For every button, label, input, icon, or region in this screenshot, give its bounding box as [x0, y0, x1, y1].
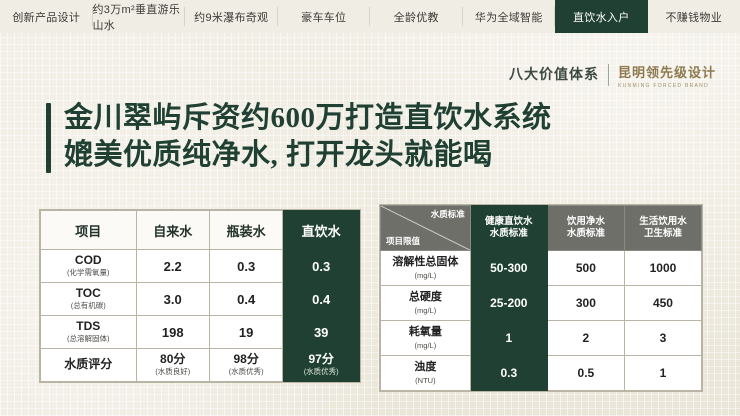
row-label-score: 水质评分 — [41, 349, 137, 382]
nav-item-label: 约3万m²垂直游乐山水 — [93, 1, 186, 33]
cell-cod-direct: 0.3 — [283, 250, 360, 283]
nav-item-label: 全龄优教 — [394, 9, 439, 25]
cell-tds-tap: 198 — [136, 316, 209, 349]
cell-tds-purified: 500 — [547, 251, 624, 286]
table-row: 溶解性总固体 (mg/L) 50-300 500 1000 — [381, 251, 702, 286]
col-header-purified: 饮用净水 水质标准 — [547, 206, 624, 251]
cell-score-direct: 97分 (水质优秀) — [283, 349, 360, 382]
cell-oxygen-purified: 2 — [547, 321, 624, 356]
nav-item-label: 华为全域智能 — [475, 9, 543, 25]
nav-item-6-active[interactable]: 直饮水入户 — [555, 0, 648, 33]
col-header-healthy-direct: 健康直饮水 水质标准 — [470, 206, 547, 251]
row-label-turbidity: 浊度 (NTU) — [381, 356, 471, 391]
row-label-sub: (总有机碳) — [41, 302, 136, 311]
col-header-bottled: 瓶装水 — [209, 211, 282, 250]
cell-tds-direct: 39 — [283, 316, 360, 349]
col-header-project: 项目 — [41, 211, 137, 250]
cell-toc-direct: 0.4 — [283, 283, 360, 316]
nav-item-7[interactable]: 不赚钱物业 — [648, 0, 740, 33]
brand-block: 八大价值体系 昆明领先级设计 KUNMING FORCED BRAND — [509, 62, 716, 89]
water-comparison-table: 项目 自来水 瓶装水 直饮水 COD (化学需氧量) 2.2 0.3 0.3 T… — [40, 210, 360, 382]
cell-value-main: 97分 — [283, 353, 359, 367]
nav-item-label: 不赚钱物业 — [666, 9, 723, 25]
table-row: 浊度 (NTU) 0.3 0.5 1 — [381, 356, 702, 391]
cell-hardness-purified: 300 — [547, 286, 624, 321]
water-comparison-table-wrap: 项目 自来水 瓶装水 直饮水 COD (化学需氧量) 2.2 0.3 0.3 T… — [40, 210, 360, 382]
col-header-domestic: 生活饮用水 卫生标准 — [624, 206, 701, 251]
nav-item-0[interactable]: 创新产品设计 — [0, 0, 93, 33]
corner-label-top: 水质标准 — [431, 209, 465, 220]
row-label-sub: (mg/L) — [381, 341, 470, 350]
col-header-text: 健康直饮水 水质标准 — [471, 216, 547, 240]
cell-tds-healthy: 50-300 — [470, 251, 547, 286]
headline-line-2: 媲美优质纯净水, 打开龙头就能喝 — [64, 137, 552, 174]
row-label-main: 总硬度 — [381, 291, 470, 304]
cell-score-tap: 80分 (水质良好) — [136, 349, 209, 382]
brand-divider — [608, 64, 609, 86]
cell-score-bottled: 98分 (水质优秀) — [209, 349, 282, 382]
col-header-direct: 直饮水 — [283, 211, 360, 250]
cell-cod-bottled: 0.3 — [209, 250, 282, 283]
nav-item-label: 直饮水入户 — [573, 9, 630, 25]
cell-value-sub: (水质优秀) — [210, 368, 282, 377]
row-label-sub: (mg/L) — [381, 271, 470, 280]
row-label-tds-solids: 溶解性总固体 (mg/L) — [381, 251, 471, 286]
row-label-main: 浊度 — [381, 361, 470, 374]
row-label-cod: COD (化学需氧量) — [41, 250, 137, 283]
table-row: COD (化学需氧量) 2.2 0.3 0.3 — [41, 250, 360, 283]
cell-turbidity-healthy: 0.3 — [470, 356, 547, 391]
row-label-sub: (总溶解固体) — [41, 335, 136, 344]
table-row: 耗氧量 (mg/L) 1 2 3 — [381, 321, 702, 356]
nav-item-label: 约9米瀑布奇观 — [194, 9, 268, 25]
cell-oxygen-domestic: 3 — [624, 321, 701, 356]
nav-item-label: 豪车车位 — [301, 9, 346, 25]
table-row: 水质评分 80分 (水质良好) 98分 (水质优秀) 97分 (水质优秀) — [41, 349, 360, 382]
headline-line-1: 金川翠屿斥资约600万打造直饮水系统 — [64, 100, 552, 137]
row-label-main: TOC — [41, 287, 136, 301]
table-header-row: 项目 自来水 瓶装水 直饮水 — [41, 211, 360, 250]
row-label-hardness: 总硬度 (mg/L) — [381, 286, 471, 321]
nav-item-1[interactable]: 约3万m²垂直游乐山水 — [93, 0, 186, 33]
row-label-sub: (NTU) — [381, 376, 470, 385]
cell-hardness-domestic: 450 — [624, 286, 701, 321]
col-header-text: 生活饮用水 卫生标准 — [625, 216, 701, 240]
cell-value-main: 98分 — [210, 353, 282, 367]
cell-value-sub: (水质优秀) — [283, 368, 359, 377]
row-label-main: TDS — [41, 320, 136, 334]
corner-cell-inner: 水质标准 项目限值 — [381, 206, 470, 250]
cell-turbidity-purified: 0.5 — [547, 356, 624, 391]
nav-item-2[interactable]: 约9米瀑布奇观 — [185, 0, 278, 33]
cell-toc-bottled: 0.4 — [209, 283, 282, 316]
cell-oxygen-healthy: 1 — [470, 321, 547, 356]
table-row: TDS (总溶解固体) 198 19 39 — [41, 316, 360, 349]
cell-tds-domestic: 1000 — [624, 251, 701, 286]
table-header-row: 水质标准 项目限值 健康直饮水 水质标准 饮用净水 水质标准 生活饮用水 卫生标… — [381, 206, 702, 251]
water-standard-table: 水质标准 项目限值 健康直饮水 水质标准 饮用净水 水质标准 生活饮用水 卫生标… — [380, 205, 702, 391]
nav-item-5[interactable]: 华为全域智能 — [463, 0, 556, 33]
headline-accent-bar — [46, 103, 51, 173]
cell-hardness-healthy: 25-200 — [470, 286, 547, 321]
cell-value-main: 80分 — [137, 353, 209, 367]
brand-en-text: KUNMING FORCED BRAND — [618, 83, 716, 89]
row-label-main: 水质评分 — [41, 358, 136, 372]
cell-cod-tap: 2.2 — [136, 250, 209, 283]
brand-left-text: 八大价值体系 — [509, 62, 599, 84]
row-label-toc: TOC (总有机碳) — [41, 283, 137, 316]
row-label-main: 耗氧量 — [381, 326, 470, 339]
row-label-oxygen: 耗氧量 (mg/L) — [381, 321, 471, 356]
corner-label-bottom: 项目限值 — [386, 236, 420, 247]
nav-item-4[interactable]: 全龄优教 — [370, 0, 463, 33]
table-row: 总硬度 (mg/L) 25-200 300 450 — [381, 286, 702, 321]
cell-value-sub: (水质良好) — [137, 368, 209, 377]
water-standard-table-wrap: 水质标准 项目限值 健康直饮水 水质标准 饮用净水 水质标准 生活饮用水 卫生标… — [380, 205, 702, 391]
table-row: TOC (总有机碳) 3.0 0.4 0.4 — [41, 283, 360, 316]
row-label-tds: TDS (总溶解固体) — [41, 316, 137, 349]
nav-item-label: 创新产品设计 — [12, 9, 80, 25]
row-label-sub: (mg/L) — [381, 306, 470, 315]
headline-block: 金川翠屿斥资约600万打造直饮水系统 媲美优质纯净水, 打开龙头就能喝 — [46, 100, 552, 174]
nav-item-3[interactable]: 豪车车位 — [278, 0, 371, 33]
row-label-sub: (化学需氧量) — [41, 269, 136, 278]
headline-text: 金川翠屿斥资约600万打造直饮水系统 媲美优质纯净水, 打开龙头就能喝 — [64, 100, 552, 174]
col-header-corner: 水质标准 项目限值 — [381, 206, 471, 251]
cell-toc-tap: 3.0 — [136, 283, 209, 316]
brand-cn-text: 昆明领先级设计 — [618, 62, 716, 81]
cell-turbidity-domestic: 1 — [624, 356, 701, 391]
top-nav: 创新产品设计 约3万m²垂直游乐山水 约9米瀑布奇观 豪车车位 全龄优教 华为全… — [0, 0, 740, 33]
col-header-tap: 自来水 — [136, 211, 209, 250]
col-header-text: 饮用净水 水质标准 — [548, 216, 624, 240]
row-label-main: COD — [41, 254, 136, 268]
row-label-main: 溶解性总固体 — [381, 256, 470, 269]
brand-right-group: 昆明领先级设计 KUNMING FORCED BRAND — [618, 62, 716, 89]
cell-tds-bottled: 19 — [209, 316, 282, 349]
